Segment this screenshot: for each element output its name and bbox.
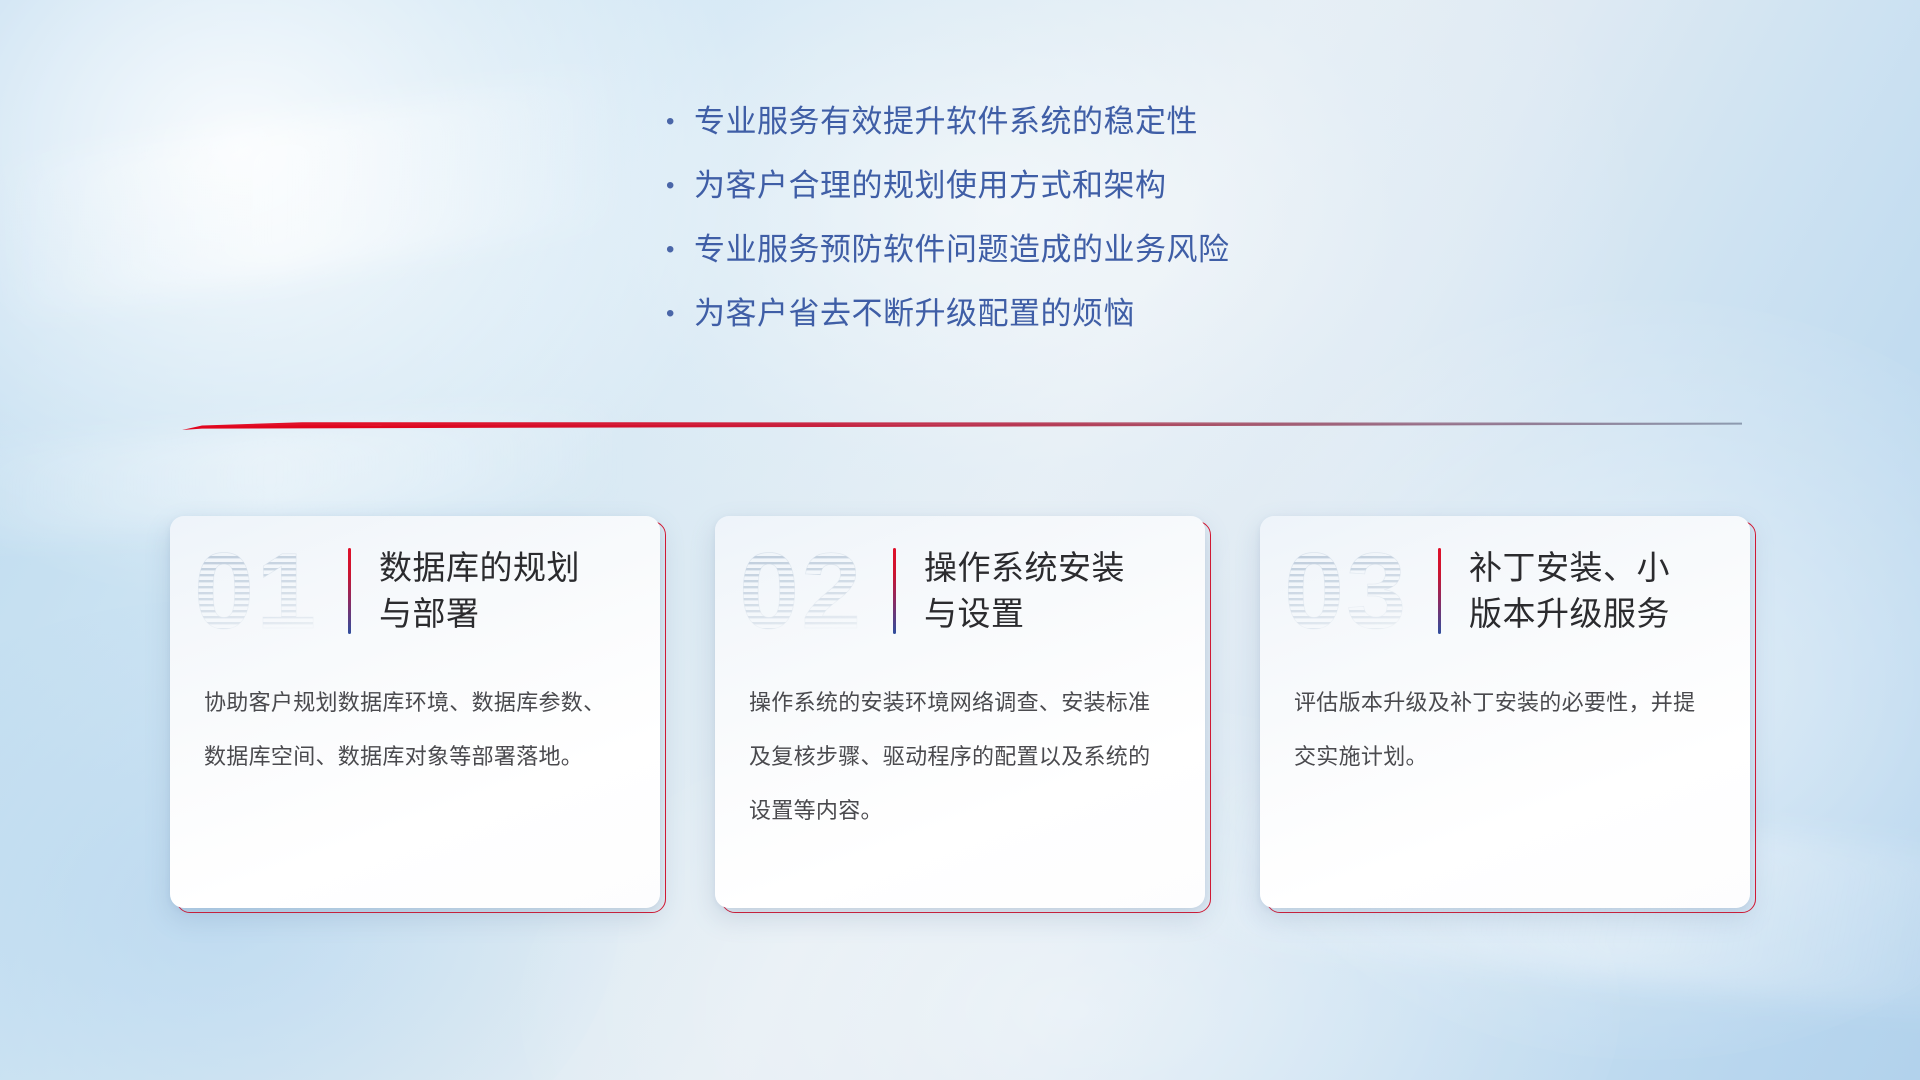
bullet-text: 为客户省去不断升级配置的烦恼 (694, 292, 1135, 336)
card-surface: 02 02 操作系统安装 与设置 操作系统的安装环境网络调查、安装标准及复核步骤… (715, 516, 1205, 908)
list-item: • 为客户合理的规划使用方式和架构 (660, 164, 1440, 228)
service-card-list: 01 01 数据库的规划 与部署 协助客户规划数据库环境、数据库参数、数据库空间… (0, 516, 1920, 908)
background-glow-top-left (0, 0, 740, 600)
svg-text:03: 03 (1284, 532, 1408, 650)
bullet-text: 专业服务有效提升软件系统的稳定性 (694, 100, 1198, 144)
card-title-line-2: 与部署 (379, 591, 580, 637)
slide-canvas: • 专业服务有效提升软件系统的稳定性 • 为客户合理的规划使用方式和架构 • 专… (0, 0, 1920, 1080)
card-surface: 01 01 数据库的规划 与部署 协助客户规划数据库环境、数据库参数、数据库空间… (170, 516, 660, 908)
list-item: • 为客户省去不断升级配置的烦恼 (660, 292, 1440, 356)
svg-text:02: 02 (739, 532, 863, 650)
card-title-line-1: 操作系统安装 (924, 545, 1125, 591)
list-item: • 专业服务有效提升软件系统的稳定性 (660, 100, 1440, 164)
card-surface: 03 03 补丁安装、小 版本升级服务 评估版本升级及补丁安装的必要性，并提交实… (1260, 516, 1750, 908)
card-accent-bar (893, 548, 896, 634)
card-header: 03 03 补丁安装、小 版本升级服务 (1260, 516, 1750, 666)
bullet-dot-icon: • (660, 164, 694, 208)
service-card-03[interactable]: 03 03 补丁安装、小 版本升级服务 评估版本升级及补丁安装的必要性，并提交实… (1260, 516, 1750, 908)
bullet-dot-icon: • (660, 292, 694, 336)
card-title-line-2: 与设置 (924, 591, 1125, 637)
bullet-text: 专业服务预防软件问题造成的业务风险 (694, 228, 1230, 272)
card-accent-bar (1438, 548, 1441, 634)
card-number-watermark-01: 01 01 (192, 532, 344, 650)
list-item: • 专业服务预防软件问题造成的业务风险 (660, 228, 1440, 292)
svg-text:01: 01 (194, 532, 318, 650)
benefits-bullet-list: • 专业服务有效提升软件系统的稳定性 • 为客户合理的规划使用方式和架构 • 专… (660, 100, 1440, 356)
card-title-line-1: 数据库的规划 (379, 545, 580, 591)
card-body-text: 评估版本升级及补丁安装的必要性，并提交实施计划。 (1260, 666, 1750, 784)
background-streak-1 (0, 72, 628, 317)
card-title-line-2: 版本升级服务 (1469, 591, 1670, 637)
card-number-watermark-02: 02 02 (737, 532, 889, 650)
card-title: 补丁安装、小 版本升级服务 (1469, 545, 1670, 637)
card-accent-bar (348, 548, 351, 634)
bullet-dot-icon: • (660, 228, 694, 272)
service-card-02[interactable]: 02 02 操作系统安装 与设置 操作系统的安装环境网络调查、安装标准及复核步骤… (715, 516, 1205, 908)
bullet-dot-icon: • (660, 100, 694, 144)
card-body-text: 协助客户规划数据库环境、数据库参数、数据库空间、数据库对象等部署落地。 (170, 666, 660, 784)
service-card-01[interactable]: 01 01 数据库的规划 与部署 协助客户规划数据库环境、数据库参数、数据库空间… (170, 516, 660, 908)
card-number-watermark-03: 03 03 (1282, 532, 1434, 650)
card-body-text: 操作系统的安装环境网络调查、安装标准及复核步骤、驱动程序的配置以及系统的设置等内… (715, 666, 1205, 838)
card-title: 操作系统安装 与设置 (924, 545, 1125, 637)
bullet-text: 为客户合理的规划使用方式和架构 (694, 164, 1167, 208)
card-title-line-1: 补丁安装、小 (1469, 545, 1670, 591)
card-header: 01 01 数据库的规划 与部署 (170, 516, 660, 666)
card-title: 数据库的规划 与部署 (379, 545, 580, 637)
card-header: 02 02 操作系统安装 与设置 (715, 516, 1205, 666)
tapered-divider (182, 416, 1742, 438)
